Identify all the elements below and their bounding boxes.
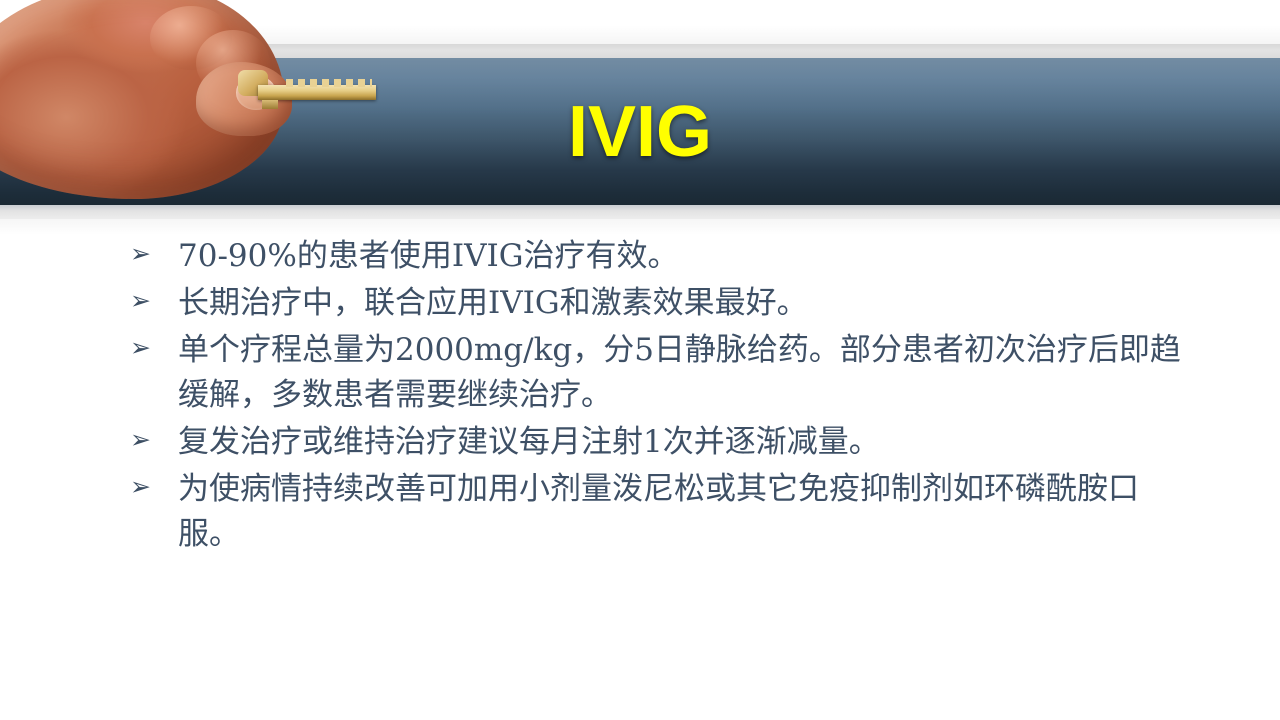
arrow-bullet-icon: ➢ bbox=[130, 420, 178, 460]
arrow-bullet-icon: ➢ bbox=[130, 467, 178, 507]
list-item: ➢ 单个疗程总量为2000mg/kg，分5日静脉给药。部分患者初次治疗后即趋缓解… bbox=[130, 328, 1190, 418]
list-item-text: 70-90%的患者使用IVIG治疗有效。 bbox=[178, 234, 1190, 279]
slide: IVIG ➢ 70-90%的患者使用IVIG治疗有效。 ➢ 长期治疗中，联合应用… bbox=[0, 0, 1280, 720]
bullet-list: ➢ 70-90%的患者使用IVIG治疗有效。 ➢ 长期治疗中，联合应用IVIG和… bbox=[130, 234, 1190, 559]
list-item: ➢ 70-90%的患者使用IVIG治疗有效。 bbox=[130, 234, 1190, 279]
list-item: ➢ 为使病情持续改善可加用小剂量泼尼松或其它免疫抑制剂如环磷酰胺口服。 bbox=[130, 467, 1190, 557]
arrow-bullet-icon: ➢ bbox=[130, 234, 178, 274]
banner-bottom-fade bbox=[0, 219, 1280, 235]
arrow-bullet-icon: ➢ bbox=[130, 281, 178, 321]
list-item-text: 为使病情持续改善可加用小剂量泼尼松或其它免疫抑制剂如环磷酰胺口服。 bbox=[178, 467, 1190, 557]
list-item-text: 单个疗程总量为2000mg/kg，分5日静脉给药。部分患者初次治疗后即趋缓解，多… bbox=[178, 328, 1190, 418]
list-item-text: 复发治疗或维持治疗建议每月注射1次并逐渐减量。 bbox=[178, 420, 1190, 465]
arrow-bullet-icon: ➢ bbox=[130, 328, 178, 368]
list-item: ➢ 复发治疗或维持治疗建议每月注射1次并逐渐减量。 bbox=[130, 420, 1190, 465]
header-banner: IVIG bbox=[0, 0, 1280, 232]
slide-title: IVIG bbox=[0, 96, 1280, 168]
list-item-text: 长期治疗中，联合应用IVIG和激素效果最好。 bbox=[178, 281, 1190, 326]
list-item: ➢ 长期治疗中，联合应用IVIG和激素效果最好。 bbox=[130, 281, 1190, 326]
